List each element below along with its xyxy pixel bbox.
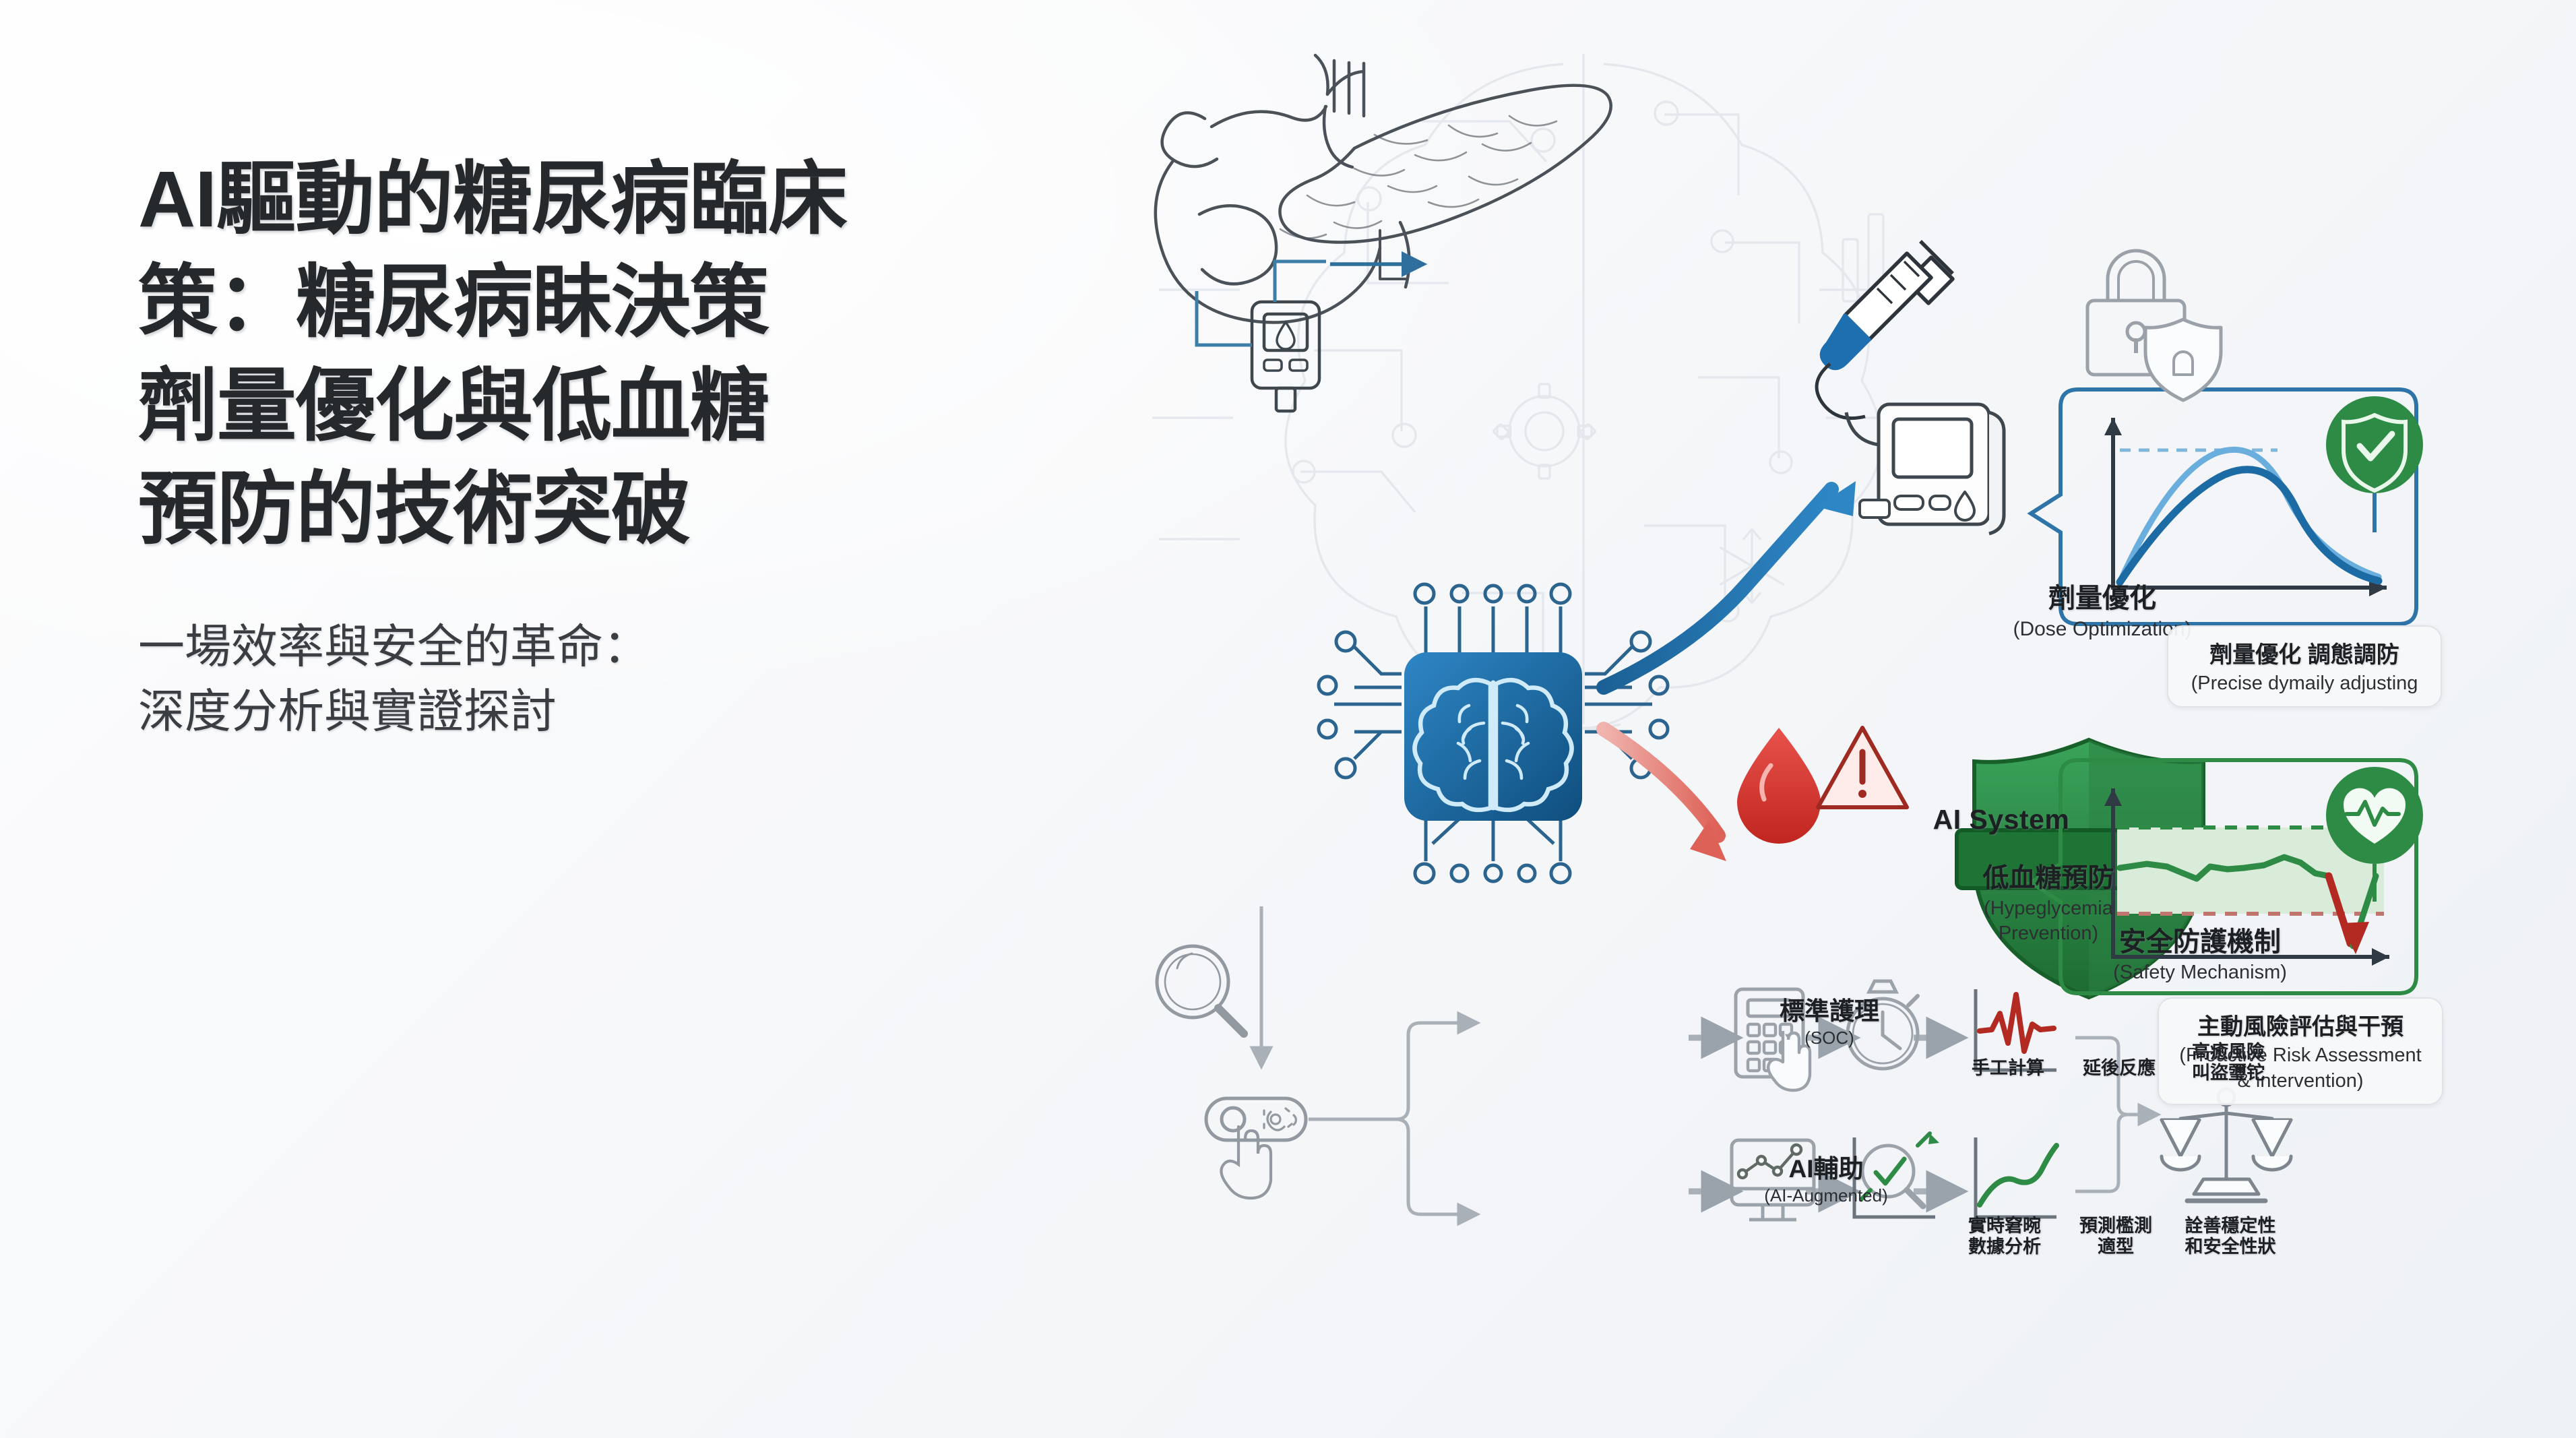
toggle-hand-icon — [1206, 1098, 1306, 1198]
title-line-3: 劑量優化與低血糖 — [138, 355, 1189, 458]
safety-caption-zh: 主動風險評估與干預 — [2172, 1008, 2428, 1041]
magnifier-icon — [1157, 946, 1244, 1034]
branch-to-soc — [1309, 1023, 1476, 1119]
safety-heart-badge — [2326, 767, 2423, 864]
warning-triangle-icon — [1818, 728, 1907, 807]
dose-shield-badge — [2326, 396, 2423, 493]
brain-circuit-watermark — [1152, 54, 1909, 728]
branch-to-ai — [1309, 1119, 1476, 1214]
insulin-pump-icon — [1846, 404, 2004, 534]
subtitle-line-2: 深度分析與實證探討 — [138, 679, 1189, 745]
syringe-icon — [1817, 241, 1953, 418]
headline-panel: AI驅動的糖尿病臨床 策：糖尿病眛決策 劑量優化與低血糖 預防的技術突破 一場效… — [138, 148, 1189, 745]
meter-link-up — [1275, 261, 1326, 302]
title-line-1: AI驅動的糖尿病臨床 — [138, 148, 1189, 251]
title-line-2: 策：糖尿病眛決策 — [138, 251, 1189, 354]
magnifier-check-icon — [1854, 1133, 1939, 1217]
optimized-dose-curve — [2120, 470, 2379, 582]
ai-to-hypo-arrow — [1604, 729, 1718, 836]
snowflake-icon — [1720, 529, 1784, 603]
page-title: AI驅動的糖尿病臨床 策：糖尿病眛決策 劑量優化與低血糖 預防的技術突破 — [138, 148, 1189, 562]
monitor-analytics-icon — [1732, 1140, 1814, 1220]
subtitle-line-1: 一場效率與安全的革命： — [138, 615, 1189, 680]
ai-merge — [2075, 1115, 2156, 1191]
meter-link-left — [1197, 291, 1252, 345]
blood-drop-icon — [1737, 728, 1821, 844]
title-line-4: 預防的技術突破 — [138, 458, 1189, 561]
safety-caption-en-2: & intervention) — [2172, 1069, 2428, 1092]
lock-shield-icon — [2087, 251, 2221, 400]
safety-caption-en-1: (Proactive Risk Assessment — [2172, 1044, 2428, 1067]
page-subtitle: 一場效率與安全的革命： 深度分析與實證探討 — [138, 615, 1189, 745]
soc-merge — [2075, 1038, 2156, 1115]
green-rising-chart-icon — [1976, 1137, 2056, 1217]
balance-scale-icon — [2162, 1089, 2291, 1201]
ai-to-dose-arrow — [1604, 489, 1831, 687]
dose-caption-zh: 劑量優化 調態調防 — [2182, 636, 2427, 669]
safety-caption-box: 主動風險評估與干預 (Proactive Risk Assessment & i… — [2158, 997, 2443, 1105]
red-volatility-chart-icon — [1976, 989, 2056, 1070]
diagram-canvas — [1132, 0, 2576, 1438]
dose-caption-en: (Precise dymaily adjusting — [2182, 672, 2427, 695]
dose-caption-box: 劑量優化 調態調防 (Precise dymaily adjusting — [2167, 625, 2442, 708]
calculator-hand-icon — [1736, 989, 1810, 1090]
infographic-diagram: AI System 劑量優化 (Dose Optimization) 低血糖預防… — [1132, 0, 2576, 1438]
stopwatch-icon — [1848, 981, 1918, 1069]
